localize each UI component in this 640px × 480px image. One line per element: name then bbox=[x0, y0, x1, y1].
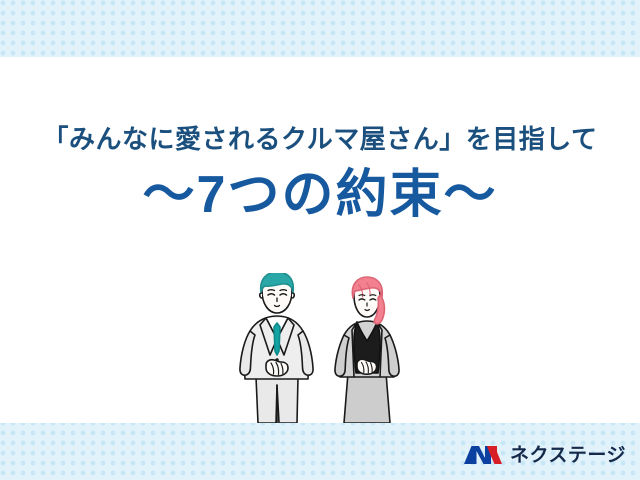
content-panel: 「みんなに愛されるクルマ屋さん」を目指して 〜7つの約束〜 bbox=[0, 57, 640, 423]
brand-wordmark: ネクステージ bbox=[510, 446, 626, 465]
slide-canvas: 「みんなに愛されるクルマ屋さん」を目指して 〜7つの約束〜 bbox=[0, 0, 640, 480]
female-staff-figure bbox=[335, 277, 399, 423]
bowing-staff-illustration bbox=[236, 273, 416, 423]
headline-block: 「みんなに愛されるクルマ屋さん」を目指して 〜7つの約束〜 bbox=[0, 57, 640, 222]
headline-primary: 「みんなに愛されるクルマ屋さん」を目指して bbox=[0, 57, 640, 154]
male-staff-figure bbox=[240, 273, 313, 423]
nextage-n-mark-icon bbox=[463, 443, 503, 467]
brand-logo: ネクステージ bbox=[463, 443, 626, 467]
headline-secondary: 〜7つの約束〜 bbox=[0, 154, 640, 223]
